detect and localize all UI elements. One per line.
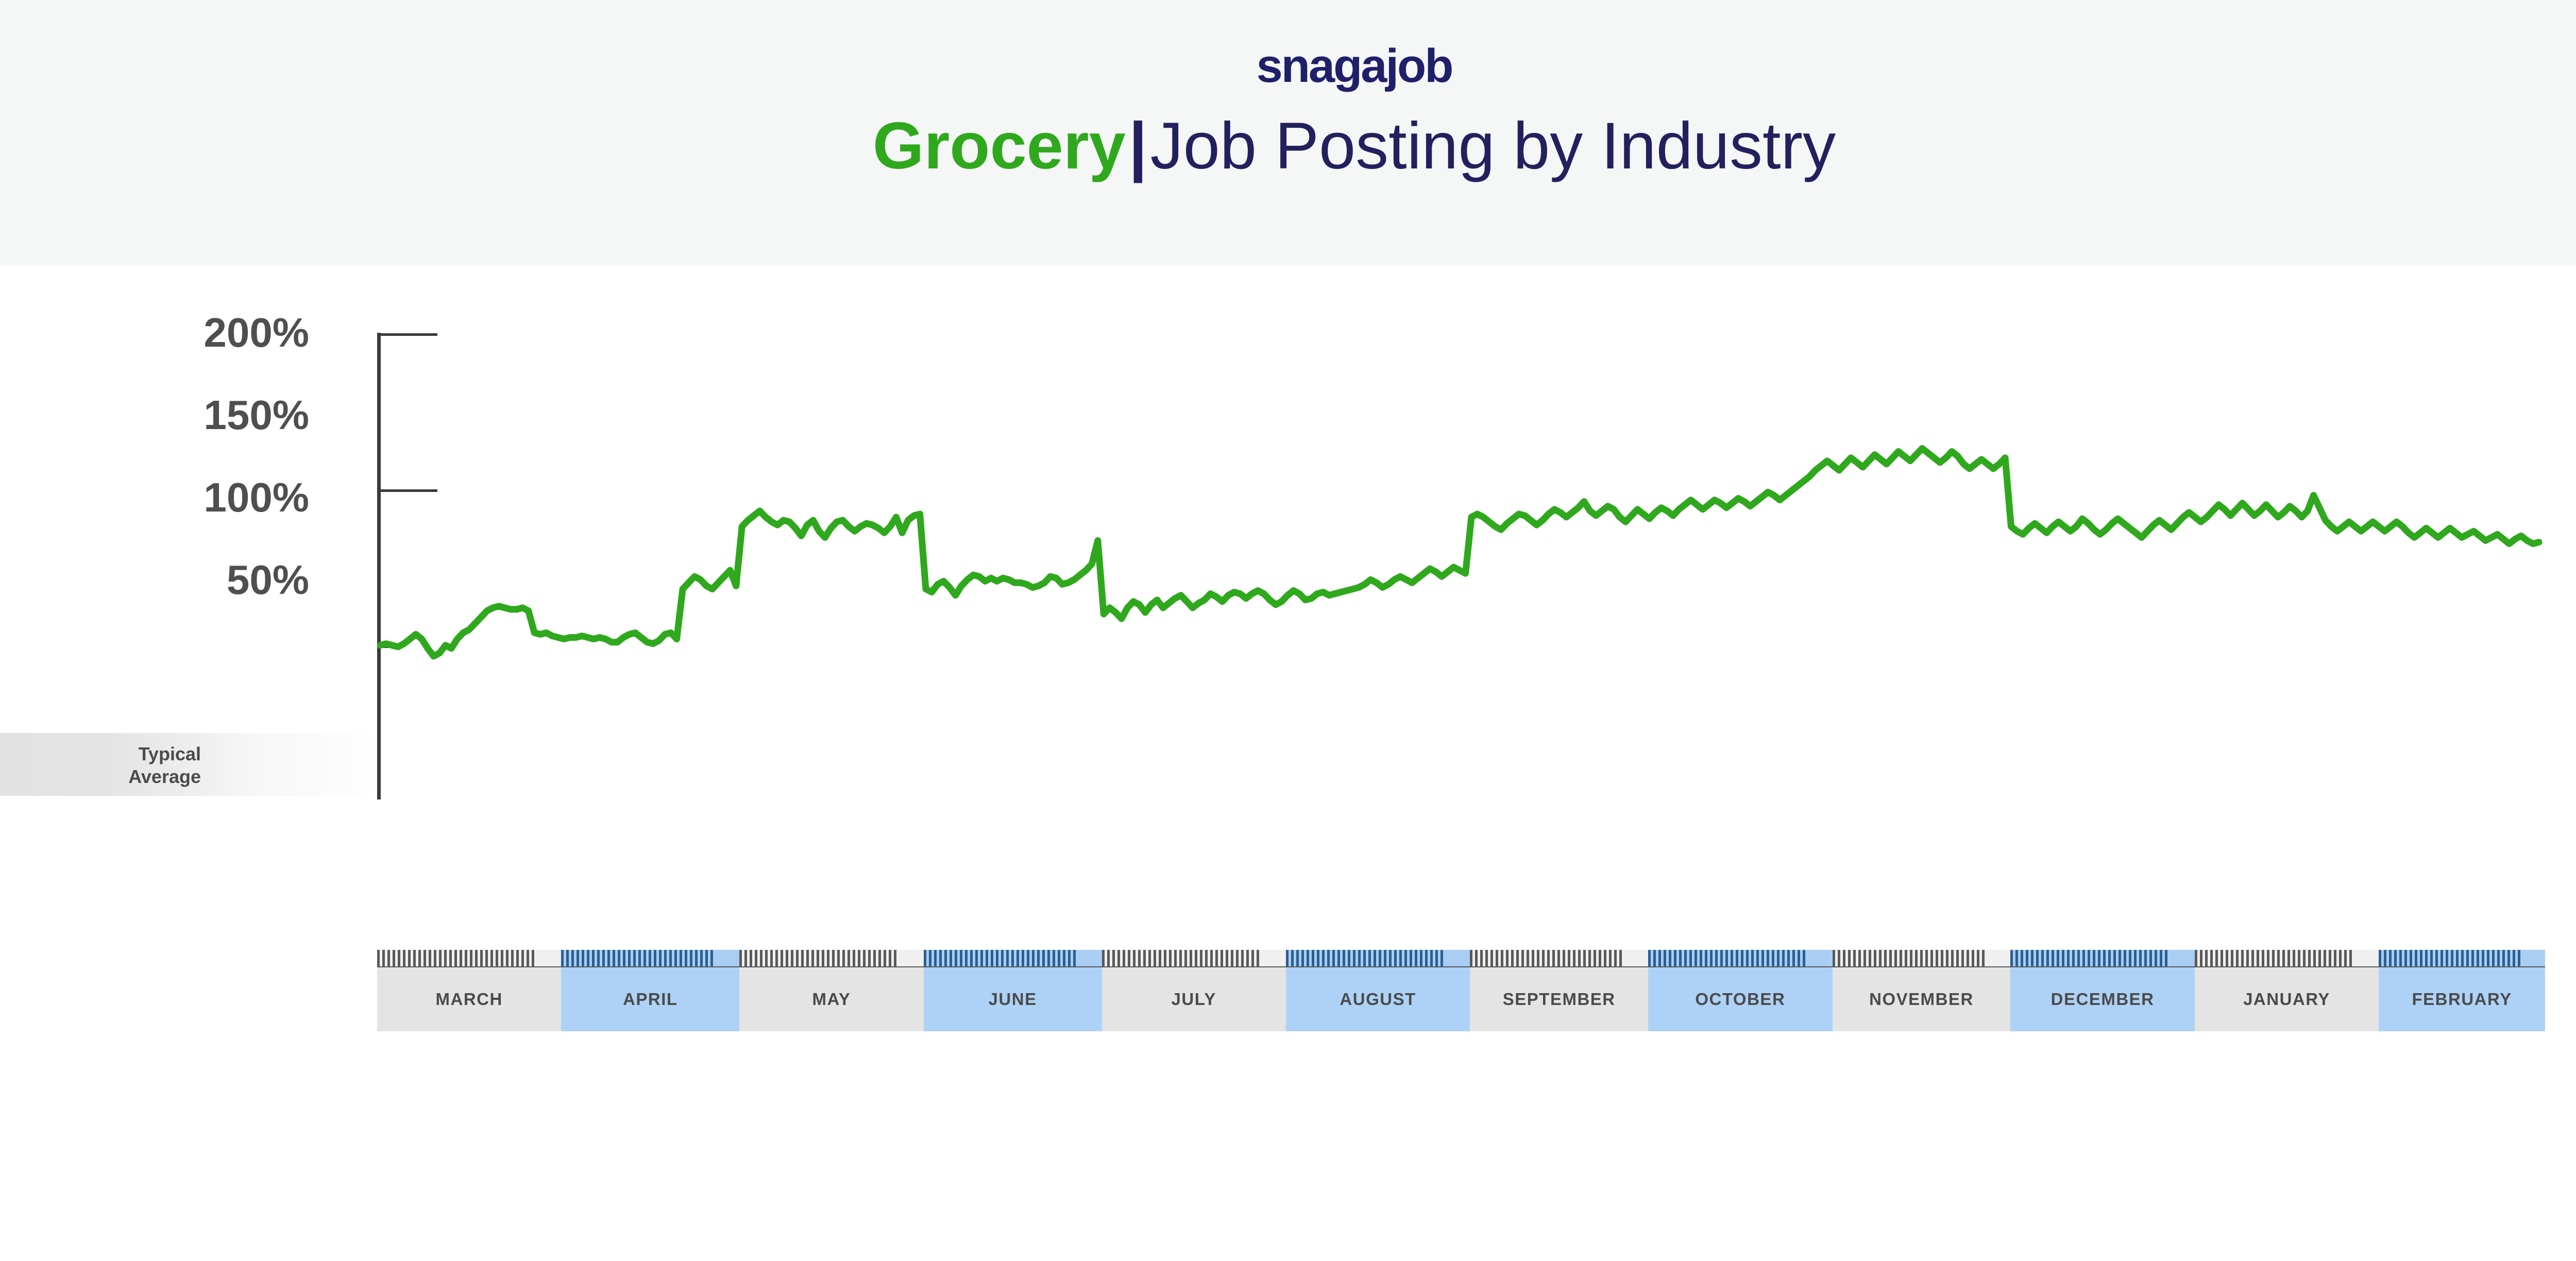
ruler-day-tick [1251,950,1254,966]
ruler-day-tick [1301,950,1304,966]
x-axis-month-bands: MARCHAPRILMAYJUNEJULYAUGUSTSEPTEMBEROCTO… [377,967,2545,1031]
ruler-day-tick [1910,950,1912,966]
y-tick-label-50: 50% [72,559,309,601]
ruler-day-tick [2441,950,2443,966]
ruler-day-tick [1905,950,1907,966]
ruler-day-tick [2226,950,2228,966]
ruler-day-tick [1506,950,1509,966]
ruler-day-tick [2339,950,2342,966]
ruler-day-tick [2046,950,2049,966]
ruler-day-tick [2129,950,2131,966]
ruler-day-tick [418,950,421,966]
ruler-day-tick [2246,950,2249,966]
ruler-day-tick [1925,950,1928,966]
month-label-october[interactable]: OCTOBER [1648,967,1832,1031]
ruler-day-tick [991,950,993,966]
ruler-day-tick [1853,950,1856,966]
ruler-day-tick [1894,950,1897,966]
ruler-day-tick [2497,950,2500,966]
ruler-day-tick [975,950,978,966]
ruler-day-tick [2031,950,2033,966]
ruler-day-tick [1833,950,1835,966]
ruler-day-tick [1684,950,1687,966]
ruler-day-tick [1154,950,1156,966]
ruler-day-tick [2399,950,2402,966]
ruler-day-tick [485,950,488,966]
ruler-day-tick [827,950,829,966]
ruler-day-tick [377,950,380,966]
ruler-day-tick [1047,950,1050,966]
ruler-day-tick [2324,950,2326,966]
ruler-day-tick [1496,950,1498,966]
ruler-month-june [924,950,1102,966]
month-label-december[interactable]: DECEMBER [2010,967,2194,1031]
ruler-day-tick [710,950,713,966]
ruler-day-tick [2088,950,2090,966]
ruler-day-tick [2389,950,2392,966]
ruler-month-july [1102,950,1286,966]
ruler-day-tick [1358,950,1361,966]
ruler-day-tick [1537,950,1539,966]
ruler-day-tick [2241,950,2244,966]
ruler-day-tick [1169,950,1172,966]
ruler-day-tick [690,950,692,966]
ruler-day-tick [659,950,662,966]
ruler-day-tick [1348,950,1350,966]
ruler-day-tick [2334,950,2336,966]
ruler-day-tick [1107,950,1110,966]
ruler-day-tick [1164,950,1166,966]
ruler-day-tick [1394,950,1397,966]
ruler-day-tick [1291,950,1294,966]
ruler-day-tick [1967,950,1969,966]
ruler-day-tick [1583,950,1586,966]
ruler-day-tick [1117,950,1120,966]
ruler-day-tick [755,950,757,966]
ruler-day-tick [2041,950,2044,966]
ruler-day-tick [2435,950,2438,966]
ruler-day-tick [1946,950,1948,966]
ruler-day-tick [1332,950,1335,966]
ruler-day-tick [1863,950,1866,966]
ruler-day-tick [1542,950,1545,966]
ruler-day-tick [1694,950,1697,966]
ruler-day-tick [1058,950,1060,966]
ruler-day-tick [1353,950,1355,966]
ruler-day-tick [1547,950,1550,966]
ruler-day-tick [685,950,687,966]
ruler-day-tick [878,950,881,966]
ruler-day-tick [1184,950,1187,966]
ruler-day-tick [1307,950,1309,966]
ruler-day-tick [1956,950,1959,966]
ruler-day-tick [623,950,625,966]
ruler-day-tick [592,950,595,966]
ruler-day-tick [1317,950,1319,966]
ruler-day-tick [837,950,840,966]
ruler-day-tick [1858,950,1861,966]
month-label-november[interactable]: NOVEMBER [1833,967,2011,1031]
series-grocery [377,333,2545,802]
ruler-day-tick [1123,950,1125,966]
ruler-day-tick [613,950,615,966]
ruler-day-tick [1782,950,1785,966]
ruler-day-tick [1614,950,1617,966]
ruler-day-tick [1511,950,1514,966]
ruler-day-tick [1951,950,1954,966]
ruler-day-tick [2507,950,2510,966]
ruler-day-tick [2430,950,2433,966]
ruler-day-tick [1221,950,1223,966]
ruler-day-tick [811,950,814,966]
ruler-day-tick [2124,950,2126,966]
page-header: snagajob Grocery|Job Posting by Industry [0,0,2576,266]
ruler-day-tick [1941,950,1943,966]
ruler-day-tick [1767,950,1769,966]
x-axis-ruler [377,950,2545,968]
ruler-day-tick [1658,950,1661,966]
ruler-day-tick [2155,950,2157,966]
ruler-month-september [1470,950,1648,966]
ruler-day-tick [1410,950,1412,966]
ruler-day-tick [2236,950,2239,966]
ruler-day-tick [1190,950,1192,966]
ruler-day-tick [423,950,426,966]
ruler-day-tick [1961,950,1964,966]
ruler-day-tick [1588,950,1591,966]
typical-average-label: Typical Average [72,743,201,788]
ruler-day-tick [1756,950,1759,966]
ruler-day-tick [1112,950,1115,966]
ruler-day-tick [955,950,957,966]
ruler-day-tick [516,950,519,966]
ruler-day-tick [924,950,926,966]
ruler-day-tick [822,950,824,966]
ruler-day-tick [1736,950,1738,966]
ruler-day-tick [1915,950,1918,966]
ruler-day-tick [633,950,636,966]
ruler-day-tick [970,950,973,966]
ruler-day-tick [1604,950,1606,966]
ruler-day-tick [1425,950,1428,966]
ruler-day-tick [1920,950,1923,966]
month-label-august[interactable]: AUGUST [1286,967,1470,1031]
ruler-day-tick [2349,950,2352,966]
ruler-day-tick [2057,950,2059,966]
ruler-day-tick [1490,950,1493,966]
ruler-day-tick [2415,950,2417,966]
ruler-day-tick [1236,950,1239,966]
ruler-day-tick [2093,950,2095,966]
ruler-day-tick [2502,950,2505,966]
ruler-day-tick [1430,950,1433,966]
ruler-day-tick [2067,950,2070,966]
ruler-day-tick [695,950,698,966]
ruler-day-tick [1200,950,1202,966]
ruler-day-tick [2098,950,2100,966]
ruler-day-tick [2287,950,2290,966]
ruler-day-tick [744,950,747,966]
ruler-day-tick [1195,950,1197,966]
ruler-day-tick [1435,950,1438,966]
ruler-day-tick [2344,950,2347,966]
ruler-day-tick [2231,950,2233,966]
ruler-day-tick [2108,950,2111,966]
ruler-day-tick [2477,950,2479,966]
ruler-day-tick [2160,950,2162,966]
ruler-day-tick [643,950,646,966]
ruler-day-tick [986,950,988,966]
ruler-day-tick [1001,950,1004,966]
ruler-day-tick [2010,950,2013,966]
ruler-day-tick [1609,950,1612,966]
ruler-day-tick [470,950,472,966]
ruler-day-tick [582,950,584,966]
ruler-day-tick [1389,950,1392,966]
ruler-day-tick [1440,950,1443,966]
ruler-day-tick [1664,950,1666,966]
ruler-day-tick [1761,950,1764,966]
ruler-month-march [377,950,561,966]
ruler-day-tick [1246,950,1249,966]
ruler-day-tick [2394,950,2397,966]
ruler-day-tick [475,950,478,966]
ruler-day-tick [496,950,498,966]
ruler-day-tick [2293,950,2295,966]
ruler-day-tick [960,950,962,966]
ruler-day-tick [1006,950,1009,966]
ruler-day-tick [1798,950,1800,966]
ruler-day-tick [460,950,462,966]
ruler-day-tick [950,950,952,966]
ruler-day-tick [2482,950,2484,966]
ruler-day-tick [1374,950,1376,966]
ruler-day-tick [2420,950,2422,966]
ruler-day-tick [2077,950,2080,966]
ruler-day-tick [2262,950,2264,966]
ruler-day-tick [1874,950,1876,966]
ruler-day-tick [889,950,891,966]
ruler-day-tick [817,950,819,966]
ruler-day-tick [1772,950,1774,966]
ruler-day-tick [944,950,947,966]
ruler-day-tick [408,950,411,966]
ruler-day-tick [1063,950,1065,966]
ruler-day-tick [1777,950,1780,966]
typical-average-line2: Average [72,765,201,788]
ruler-day-tick [1977,950,1979,966]
ruler-day-tick [2210,950,2213,966]
ruler-day-tick [413,950,416,966]
ruler-day-tick [750,950,752,966]
ruler-day-tick [2492,950,2495,966]
month-label-july[interactable]: JULY [1102,967,1286,1031]
ruler-day-tick [2021,950,2023,966]
ruler-day-tick [571,950,574,966]
ruler-day-tick [2149,950,2152,966]
ruler-day-tick [2272,950,2275,966]
ruler-day-tick [1674,950,1676,966]
ruler-day-tick [602,950,605,966]
ruler-day-tick [1296,950,1299,966]
ruler-day-tick [1404,950,1407,966]
ruler-day-tick [1368,950,1371,966]
ruler-day-tick [853,950,855,966]
ruler-day-tick [1884,950,1887,966]
ruler-day-tick [1930,950,1933,966]
ruler-day-tick [2221,950,2223,966]
ruler-day-tick [2139,950,2142,966]
ruler-day-tick [1138,950,1141,966]
ruler-day-tick [638,950,641,966]
ruler-month-december [2010,950,2194,966]
title-industry: Grocery [873,109,1126,183]
title-separator: | [1126,109,1150,183]
ruler-day-tick [2119,950,2121,966]
y-tick-label-150: 150% [72,395,309,436]
month-label-january[interactable]: JANUARY [2195,967,2379,1031]
ruler-day-tick [858,950,860,966]
ruler-day-tick [521,950,524,966]
chart-area: Typical Average 200% 150% 100% 50% MARCH… [0,266,2576,1261]
y-tick-label-100: 100% [72,477,309,518]
ruler-month-august [1286,950,1470,966]
ruler-day-tick [490,950,493,966]
ruler-day-tick [1972,950,1974,966]
ruler-day-tick [1700,950,1702,966]
ruler-day-tick [1148,950,1151,966]
ruler-day-tick [700,950,703,966]
ruler-day-tick [506,950,509,966]
ruler-day-tick [1027,950,1029,966]
ruler-day-tick [1568,950,1570,966]
month-label-may[interactable]: MAY [739,967,923,1031]
ruler-day-tick [2015,950,2018,966]
ruler-day-tick [1016,950,1019,966]
ruler-day-tick [1475,950,1478,966]
typical-average-line1: Typical [72,743,201,765]
ruler-day-tick [1068,950,1071,966]
ruler-day-tick [2384,950,2386,966]
month-label-february[interactable]: FEBRUARY [2379,967,2545,1031]
ruler-day-tick [2308,950,2311,966]
y-tick-label-200: 200% [72,312,309,353]
ruler-day-tick [444,950,447,966]
ruler-day-tick [1715,950,1718,966]
ruler-day-tick [868,950,871,966]
ruler-day-tick [1231,950,1233,966]
ruler-day-tick [1787,950,1790,966]
ruler-day-tick [2410,950,2412,966]
ruler-day-tick [566,950,569,966]
ruler-day-tick [1343,950,1345,966]
ruler-day-tick [454,950,457,966]
ruler-day-tick [1557,950,1560,966]
ruler-day-tick [1073,950,1076,966]
ruler-day-tick [1879,950,1882,966]
ruler-day-tick [1527,950,1529,966]
ruler-day-tick [884,950,886,966]
ruler-day-tick [2052,950,2054,966]
ruler-day-tick [2251,950,2254,966]
ruler-day-tick [705,950,708,966]
ruler-day-tick [434,950,436,966]
ruler-day-tick [1720,950,1723,966]
ruler-day-tick [1594,950,1596,966]
ruler-day-tick [527,950,529,966]
ruler-day-tick [1399,950,1402,966]
ruler-day-tick [561,950,564,966]
ruler-day-tick [1420,950,1422,966]
ruler-day-tick [765,950,768,966]
ruler-day-tick [842,950,845,966]
ruler-day-tick [1710,950,1713,966]
ruler-day-tick [382,950,385,966]
ruler-day-tick [873,950,876,966]
ruler-day-tick [2446,950,2448,966]
ruler-day-tick [934,950,937,966]
ruler-month-february [2379,950,2545,966]
month-label-september[interactable]: SEPTEMBER [1470,967,1648,1031]
ruler-day-tick [2200,950,2202,966]
ruler-day-tick [2062,950,2064,966]
ruler-day-tick [832,950,835,966]
title-rest: Job Posting by Industry [1150,109,1836,183]
ruler-day-tick [449,950,452,966]
ruler-day-tick [1653,950,1656,966]
ruler-day-tick [965,950,968,966]
ruler-day-tick [2318,950,2321,966]
ruler-day-tick [1379,950,1381,966]
ruler-day-tick [532,950,534,966]
ruler-day-tick [2072,950,2075,966]
ruler-day-tick [863,950,866,966]
ruler-day-tick [1689,950,1692,966]
ruler-day-tick [1741,950,1743,966]
ruler-day-tick [2451,950,2453,966]
month-label-april[interactable]: APRIL [561,967,739,1031]
ruler-day-tick [929,950,931,966]
ruler-day-tick [760,950,762,966]
ruler-day-tick [2195,950,2197,966]
ruler-day-tick [2425,950,2428,966]
ruler-day-tick [939,950,942,966]
ruler-day-tick [2518,950,2520,966]
ruler-day-tick [664,950,667,966]
ruler-day-tick [2404,950,2407,966]
ruler-day-tick [2298,950,2300,966]
ruler-day-tick [781,950,783,966]
ruler-day-tick [1037,950,1040,966]
ruler-day-tick [1286,950,1289,966]
ruler-day-tick [2144,950,2147,966]
ruler-day-tick [618,950,620,966]
month-label-june[interactable]: JUNE [924,967,1102,1031]
ruler-month-april [561,950,739,966]
ruler-day-tick [654,950,656,966]
month-label-march[interactable]: MARCH [377,967,561,1031]
ruler-day-tick [1869,950,1871,966]
ruler-day-tick [501,950,503,966]
ruler-day-tick [1648,950,1651,966]
ruler-day-tick [1792,950,1795,966]
ruler-day-tick [2461,950,2464,966]
ruler-day-tick [1563,950,1565,966]
ruler-day-tick [2205,950,2208,966]
ruler-day-tick [1751,950,1754,966]
ruler-day-tick [1226,950,1228,966]
ruler-day-tick [1011,950,1014,966]
